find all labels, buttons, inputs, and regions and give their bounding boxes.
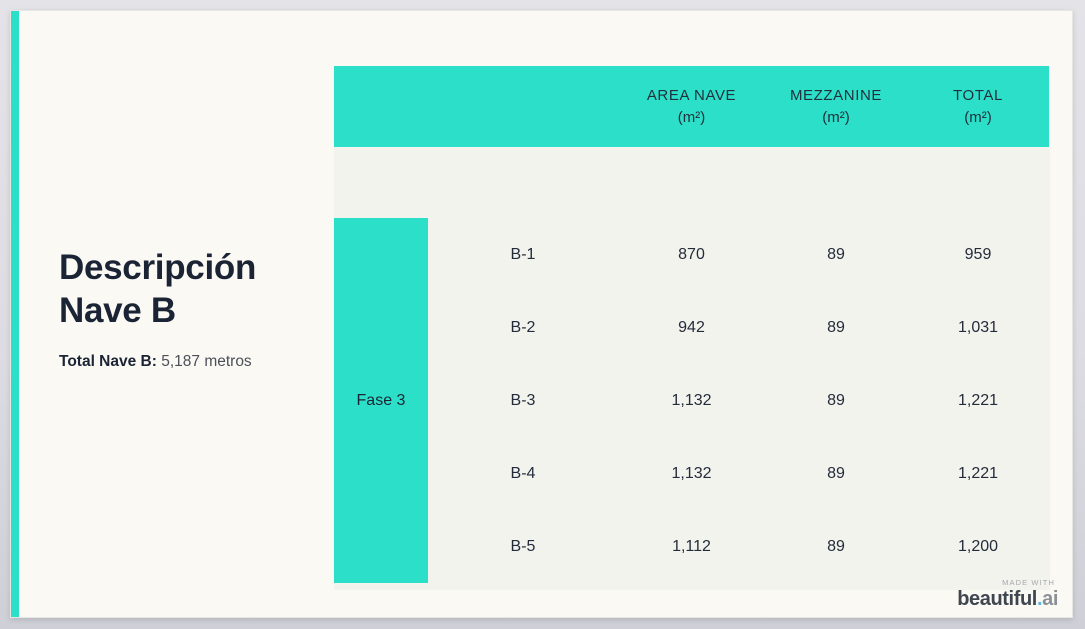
table-header-total: TOTAL (m²): [907, 85, 1049, 128]
table-cell-mezzanine: 89: [765, 465, 907, 483]
table-cell-area-nave: 942: [618, 319, 765, 337]
table-cell-label: B-2: [428, 319, 618, 337]
table-header-total-unit: (m²): [907, 107, 1049, 128]
subtitle-lead: Total Nave B:: [59, 353, 157, 370]
table-cell-label: B-4: [428, 465, 618, 483]
page-title-line-1: Descripción: [59, 248, 256, 287]
table-cell-total: 959: [907, 246, 1049, 264]
table-row: B-51,112891,200: [334, 510, 1049, 583]
watermark-brand: beautiful.ai: [957, 588, 1058, 610]
data-table: AREA NAVE (m²) MEZZANINE (m²) TOTAL (m²)…: [334, 66, 1050, 590]
watermark: MADE WITH beautiful.ai: [957, 579, 1058, 610]
page-title: Descripción Nave B: [59, 246, 309, 333]
table-cell-area-nave: 870: [618, 246, 765, 264]
table-header-total-text: TOTAL: [953, 87, 1003, 104]
table-cell-area-nave: 1,132: [618, 465, 765, 483]
table-row: B-31,132891,221: [334, 364, 1049, 437]
table-cell-total: 1,200: [907, 538, 1049, 556]
slide: Descripción Nave B Total Nave B: 5,187 m…: [10, 10, 1073, 618]
table-header-mezzanine: MEZZANINE (m²): [765, 85, 907, 128]
table-cell-mezzanine: 89: [765, 246, 907, 264]
table-cell-label: B-3: [428, 392, 618, 410]
table-cell-mezzanine: 89: [765, 319, 907, 337]
table-row: B-187089959: [334, 218, 1049, 291]
presentation-viewport: Descripción Nave B Total Nave B: 5,187 m…: [0, 0, 1085, 629]
table-header-area-nave-unit: (m²): [618, 107, 765, 128]
table-cell-total: 1,221: [907, 392, 1049, 410]
table-cell-label: B-1: [428, 246, 618, 264]
table-header-mezzanine-unit: (m²): [765, 107, 907, 128]
table-row: B-41,132891,221: [334, 437, 1049, 510]
slide-text-panel: Descripción Nave B Total Nave B: 5,187 m…: [59, 246, 309, 373]
slide-subtitle: Total Nave B: 5,187 metros: [59, 351, 309, 373]
table-cell-label: B-5: [428, 538, 618, 556]
table-cell-area-nave: 1,112: [618, 538, 765, 556]
watermark-made-with: MADE WITH: [957, 579, 1055, 587]
subtitle-value: 5,187 metros: [161, 353, 251, 370]
table-cell-area-nave: 1,132: [618, 392, 765, 410]
table-cell-mezzanine: 89: [765, 538, 907, 556]
table-cell-total: 1,031: [907, 319, 1049, 337]
watermark-brand-name: beautiful: [957, 588, 1037, 610]
table-header-area-nave: AREA NAVE (m²): [618, 85, 765, 128]
page-title-line-2: Nave B: [59, 291, 176, 330]
table-header-row: AREA NAVE (m²) MEZZANINE (m²) TOTAL (m²): [334, 66, 1049, 147]
watermark-brand-tld: ai: [1042, 588, 1058, 610]
table-cell-total: 1,221: [907, 465, 1049, 483]
slide-accent-bar: [11, 11, 19, 618]
table-rows: B-187089959B-2942891,031B-31,132891,221B…: [334, 218, 1049, 583]
table-row: B-2942891,031: [334, 291, 1049, 364]
table-cell-mezzanine: 89: [765, 392, 907, 410]
table-header-area-nave-text: AREA NAVE: [647, 87, 736, 104]
table-header-mezzanine-text: MEZZANINE: [790, 87, 882, 104]
